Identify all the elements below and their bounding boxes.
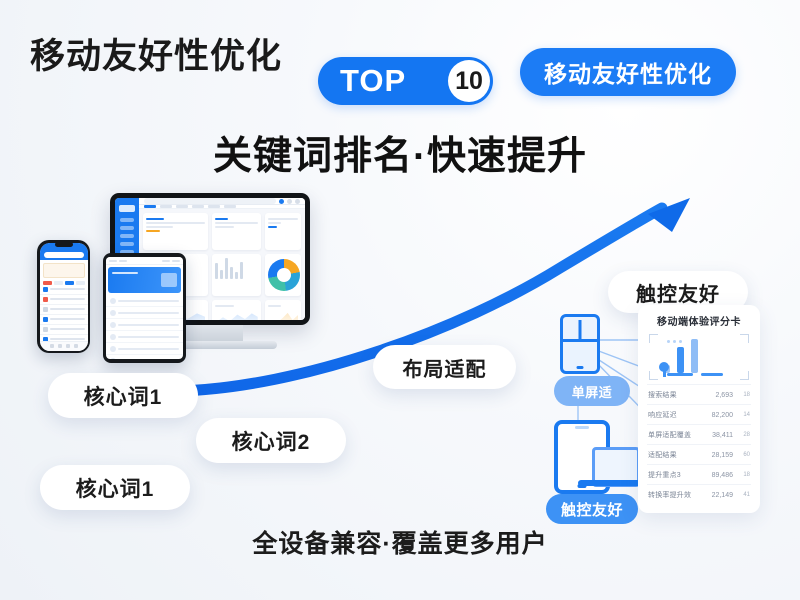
score-row-value: 22,149 — [711, 492, 733, 499]
keyword-pill-1[interactable]: 核心词1 — [48, 373, 198, 418]
tablet-screen — [106, 257, 183, 359]
page-title: 移动友好性优化 — [30, 28, 282, 79]
score-row-delta: 18 — [737, 472, 750, 478]
score-row-value: 89,486 — [711, 472, 733, 479]
score-row-delta: 60 — [737, 452, 750, 458]
mobile-experience-score-card: 移动端体验评分卡 搜索结果 2,693 18 响应延迟 82,200 14 单屏… — [638, 305, 760, 513]
poster-canvas: 移动友好性优化 TOP 10 移动友好性优化 关键词排名·快速提升 — [0, 0, 800, 600]
score-row-value: 28,159 — [711, 452, 733, 459]
score-card-title: 移动端体验评分卡 — [647, 313, 751, 328]
score-row-value: 2,693 — [711, 392, 733, 399]
score-row-name: 转换率提升效 — [648, 490, 707, 500]
score-row-delta: 41 — [737, 492, 750, 498]
laptop-base-icon — [578, 480, 646, 486]
score-row: 搜索结果 2,693 18 — [647, 384, 751, 404]
dashboard-topbar — [139, 198, 305, 205]
footer-tagline: 全设备兼容·覆盖更多用户 — [0, 524, 800, 560]
small-phone-icon — [560, 314, 600, 374]
phone-screen — [40, 243, 88, 351]
score-row-name: 响应延迟 — [648, 410, 707, 420]
keyword-pill-3[interactable]: 核心词1 — [40, 465, 190, 510]
score-row: 适配结果 28,159 60 — [647, 444, 751, 464]
score-row-value: 38,411 — [711, 432, 733, 439]
score-row-delta: 28 — [737, 432, 750, 438]
score-row-name: 单屏适配覆盖 — [648, 430, 707, 440]
device-mockup-group — [25, 185, 345, 395]
header-tag-pill: 移动友好性优化 — [520, 48, 736, 96]
score-row-delta: 14 — [737, 412, 750, 418]
layout-adaptation-pill[interactable]: 布局适配 — [373, 345, 516, 389]
page-subtitle: 关键词排名·快速提升 — [0, 125, 800, 181]
top-rank-badge: TOP 10 — [318, 57, 493, 105]
diagram-pill-single-screen[interactable]: 单屏适 — [554, 376, 630, 406]
diagram-pill-touch-friendly[interactable]: 触控友好 — [546, 494, 638, 524]
keyword-pill-2[interactable]: 核心词2 — [196, 418, 346, 463]
phone-notch — [55, 242, 73, 247]
score-row-name: 提升重点3 — [648, 470, 707, 480]
score-row-name: 搜索结果 — [648, 390, 707, 400]
location-pin-icon — [659, 362, 669, 372]
score-row: 单屏适配覆盖 38,411 28 — [647, 424, 751, 444]
donut-chart — [265, 254, 301, 296]
top-badge-number: 10 — [448, 60, 490, 102]
score-row: 响应延迟 82,200 14 — [647, 404, 751, 424]
tablet-mockup — [103, 253, 186, 363]
score-row-delta: 18 — [737, 392, 750, 398]
phone-mockup — [37, 240, 90, 353]
score-card-illustration — [649, 334, 749, 380]
score-row-name: 适配结果 — [648, 450, 707, 460]
top-badge-word: TOP — [340, 63, 406, 99]
score-row-value: 82,200 — [711, 412, 733, 419]
score-row: 转换率提升效 22,149 41 — [647, 484, 751, 504]
score-row: 提升重点3 89,486 18 — [647, 464, 751, 484]
